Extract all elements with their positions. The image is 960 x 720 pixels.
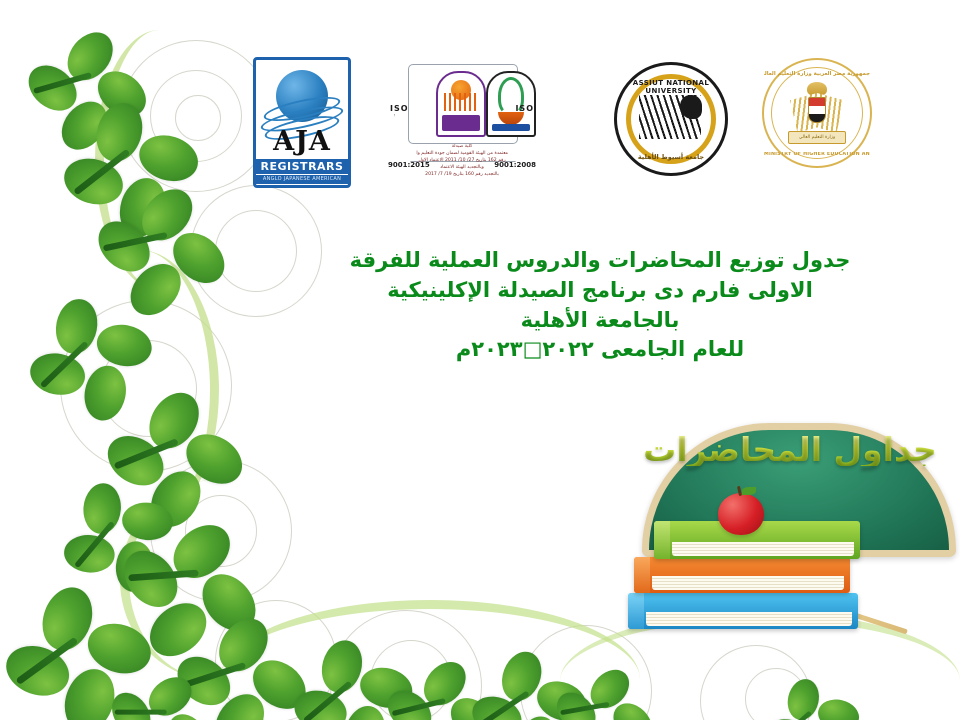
clover-leaf [381, 633, 511, 720]
emblem-name-bar [442, 115, 480, 131]
swirl-ornament [185, 495, 257, 567]
aja-wordmark: AJA [256, 126, 348, 157]
clover-leaf [110, 480, 291, 661]
page-title: جدول توزيع المحاضرات والدروس العملية للف… [330, 246, 870, 365]
ministry-of-higher-education-logo: جمهورية مصر العربية وزارة التعليم العالي… [762, 58, 872, 168]
iso-arabic-accreditation-text: كلية صيدلة معتمدة من الهيئة القومية لضما… [416, 144, 508, 178]
vine-stroke [120, 480, 309, 680]
iso-arabic-line: كلية صيدلة [416, 144, 508, 151]
swirl-ornament [100, 340, 197, 437]
swirl-ornament [190, 185, 322, 317]
logo-row: AJA REGISTRARS ANGLO JAPANESE AMERICAN I… [0, 0, 960, 200]
anu-english-name: ASSIUT NATIONAL UNIVERSITY [617, 79, 725, 95]
assiut-national-university-logo: ASSIUT NATIONAL UNIVERSITY جامعة أسيوط ا… [614, 62, 728, 176]
cover-page: AJA REGISTRARS ANGLO JAPANESE AMERICAN I… [0, 0, 960, 720]
book-pages [672, 542, 854, 556]
swirl-ornament [370, 640, 452, 720]
ministry-english-name: MINISTRY OF HIGHER EDUCATION AND SCIENTI… [764, 152, 870, 157]
book-spine [628, 593, 644, 629]
clover-leaf [105, 365, 252, 512]
anu-arabic-name: جامعة أسيوط الأهلية [617, 153, 725, 161]
swirl-ornament [150, 460, 292, 602]
apple-leaf [742, 487, 756, 495]
title-line-2: الاولى فارم دى برنامج الصيدلة الإكلينيكي… [330, 276, 870, 306]
title-line-4: للعام الجامعى ٢٠٢٢□٢٠٢٣م [330, 335, 870, 365]
lecture-schedules-artwork: جداول المحاضرات [620, 415, 960, 675]
book-pages [652, 576, 844, 590]
clover-leaf [13, 267, 158, 412]
iso-arabic-line: بالتجديد رقم 160 بتاريخ 19/ 7/ 2017 [416, 172, 508, 179]
ministry-arabic-name: جمهورية مصر العربية وزارة التعليم العالي [764, 71, 870, 77]
aja-subtitle-2: ANGLO JAPANESE AMERICAN [256, 175, 348, 184]
clover-leaf [42, 450, 183, 591]
iso-certification-logo: ISO ISO 9001:2015 9001:2008 كلية صيدلة م… [388, 62, 536, 177]
iso-emblem-frame [408, 64, 518, 144]
swirl-ornament [745, 668, 807, 720]
iso-arabic-line: وبالتجديد الهيئة الاعتماد [416, 165, 508, 172]
aja-subtitle: REGISTRARS [256, 159, 348, 174]
clover-leaf [283, 613, 416, 720]
emblem-name-bar [492, 124, 530, 131]
iso-arabic-line: معتمدة من الهيئة القومية لضمان جودة التع… [416, 151, 508, 158]
clover-leaf [172, 588, 320, 720]
title-line-1: جدول توزيع المحاضرات والدروس العملية للف… [330, 246, 870, 276]
swirl-ornament [60, 300, 232, 472]
clover-leaf [469, 631, 586, 720]
ministry-scroll-text: وزارة التعليم العالي [788, 131, 846, 144]
vine-stroke [60, 250, 219, 530]
swirl-ornament [215, 600, 337, 720]
list-item [628, 593, 858, 629]
rays-icon [444, 93, 478, 111]
swirl-ornament [330, 610, 482, 720]
chalkboard-text: جداول المحاضرات [620, 433, 960, 466]
iso-band-left: ISO [390, 104, 409, 113]
book-spine [634, 557, 650, 593]
assiut-university-emblem [436, 71, 486, 137]
iso-arabic-line: رقم 162 بتاريخ 27/ 10/ 2011 الاعتماد الا… [416, 158, 508, 165]
clover-leaf [100, 642, 237, 720]
clover-leaf [0, 559, 153, 713]
list-item [634, 557, 850, 593]
swirl-ornament [215, 210, 297, 292]
iso-band-right: ISO [515, 104, 534, 113]
title-line-3: بالجامعة الأهلية [330, 306, 870, 336]
eye-icon [680, 95, 702, 119]
book-pages [646, 612, 852, 626]
apple-icon [718, 493, 764, 535]
book-spine [654, 521, 670, 559]
aja-registrars-logo: AJA REGISTRARS ANGLO JAPANESE AMERICAN [253, 57, 351, 188]
vine-stroke [220, 600, 640, 720]
egypt-flag-shield-icon [808, 97, 826, 123]
